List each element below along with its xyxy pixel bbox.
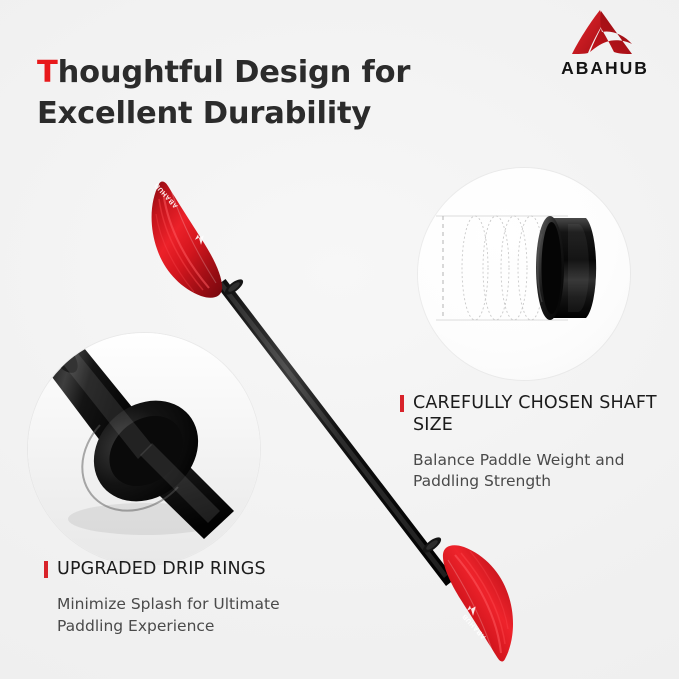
callout-heading-drip-rings: UPGRADED DRIP RINGS bbox=[44, 558, 344, 580]
callout-heading-label: CAREFULLY CHOSEN SHAFT SIZE bbox=[413, 392, 662, 437]
callout-subtitle: Balance Paddle Weight and Paddling Stren… bbox=[413, 450, 662, 493]
svg-text:ABAHUB: ABAHUB bbox=[153, 181, 179, 209]
callout-subtitle: Minimize Splash for Ultimate Paddling Ex… bbox=[57, 594, 344, 637]
callout-heading-shaft-size: CAREFULLY CHOSEN SHAFT SIZE bbox=[400, 392, 662, 437]
headline-line-2: Excellent Durability bbox=[37, 96, 371, 131]
drip-ring-closeup-photo bbox=[28, 333, 260, 565]
heading-marker-icon bbox=[400, 395, 404, 412]
headline-line-1: houghtful Design for bbox=[58, 55, 411, 90]
brand-name: ABAHUB bbox=[540, 58, 670, 79]
heading-marker-icon bbox=[44, 561, 48, 578]
shaft-size-inset: 29 mm bbox=[418, 168, 630, 380]
svg-text:ABAHUB: ABAHUB bbox=[461, 612, 487, 640]
infographic-page: ABAHUB Thoughtful Design for Excellent D… bbox=[0, 0, 679, 679]
blade-brand-text-bottom: ABAHUB bbox=[461, 612, 487, 640]
paddle-blade-top: ABAHUB bbox=[152, 181, 223, 298]
drip-ring-lower bbox=[421, 535, 444, 556]
callout-shaft-size: CAREFULLY CHOSEN SHAFT SIZE Balance Padd… bbox=[400, 392, 662, 493]
headline-accent-letter: T bbox=[37, 55, 58, 90]
page-title: Thoughtful Design for Excellent Durabili… bbox=[37, 53, 507, 134]
callout-drip-rings: UPGRADED DRIP RINGS Minimize Splash for … bbox=[44, 558, 344, 638]
blade-brand-text: ABAHUB bbox=[153, 181, 179, 209]
brand-logo: ABAHUB bbox=[540, 8, 670, 88]
shaft-cross-section-diagram bbox=[418, 168, 630, 380]
abahub-swoosh-logo-icon bbox=[564, 8, 638, 56]
drip-ring-inset bbox=[28, 333, 260, 565]
paddle-blade-bottom: ABAHUB bbox=[443, 545, 513, 661]
callout-heading-label: UPGRADED DRIP RINGS bbox=[57, 558, 266, 580]
drip-ring-upper bbox=[223, 277, 246, 298]
